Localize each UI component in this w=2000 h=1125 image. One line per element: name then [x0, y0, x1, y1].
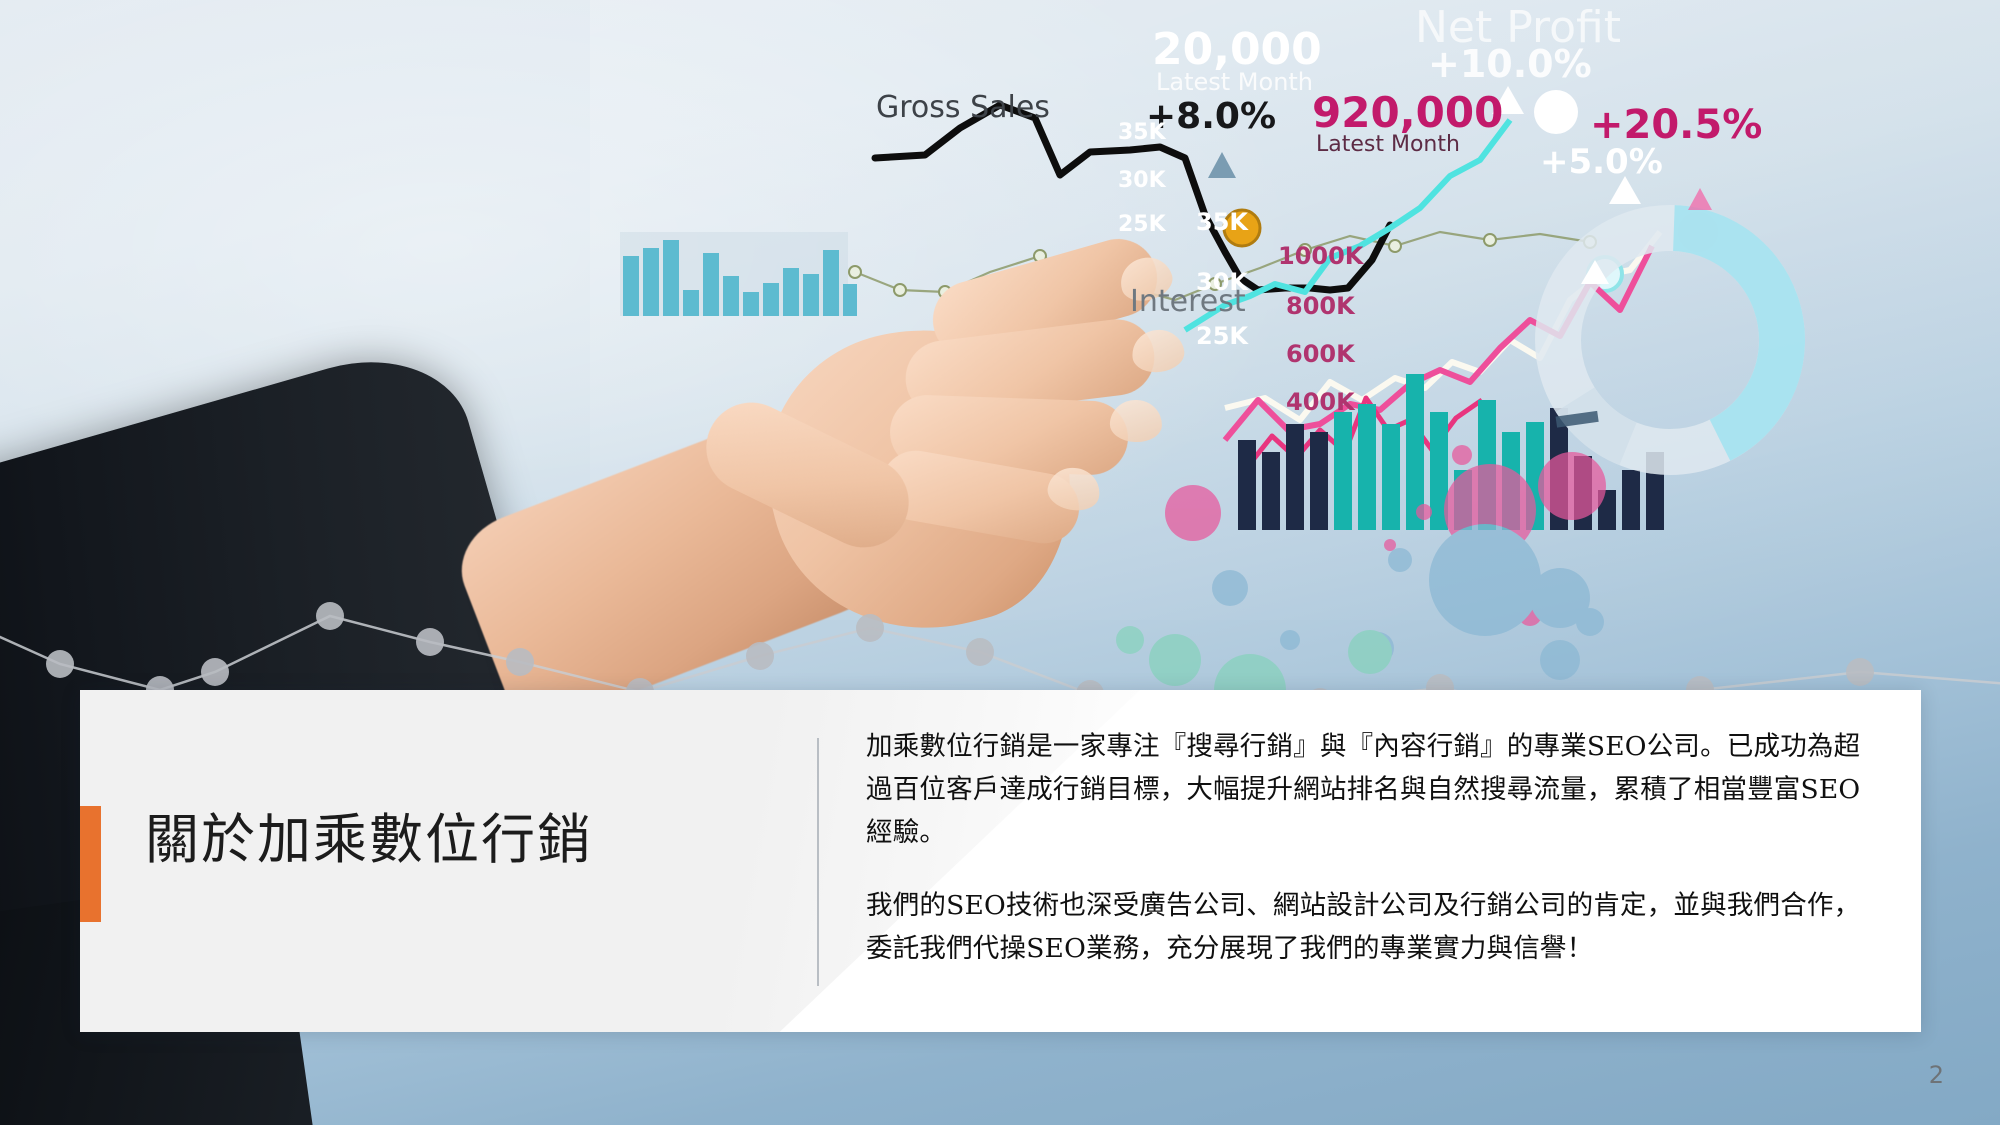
axis-tick-30k-a: 30K: [1118, 168, 1166, 193]
page-number: 2: [1929, 1061, 1944, 1089]
accent-bar: [80, 806, 101, 922]
axis-tick-400k: 400K: [1286, 388, 1355, 416]
content-card: 關於加乘數位行銷 加乘數位行銷是一家專注『搜尋行銷』與『內容行銷』的專業SEO公…: [80, 690, 1921, 1032]
label-interest: Interest: [1130, 284, 1246, 319]
paragraph-2: 我們的SEO技術也深受廣告公司、網站設計公司及行銷公司的肯定，並與我們合作，委託…: [866, 885, 1876, 971]
page-title: 關於加乘數位行銷: [145, 808, 705, 873]
axis-tick-1000k: 1000K: [1278, 242, 1363, 270]
bar-chart-left: [620, 232, 857, 316]
cyan-line-end-dot: [1534, 90, 1578, 134]
body-text: 加乘數位行銷是一家專注『搜尋行銷』與『內容行銷』的專業SEO公司。已成功為超過百…: [866, 726, 1876, 971]
value-pct-10: +10.0%: [1428, 42, 1592, 86]
axis-tick-25k-b: 25K: [1196, 322, 1248, 350]
value-920000: 920,000: [1312, 88, 1503, 137]
axis-tick-25k-a: 25K: [1118, 212, 1166, 237]
axis-tick-800k: 800K: [1286, 292, 1355, 320]
axis-tick-600k: 600K: [1286, 340, 1355, 368]
vertical-divider: [817, 738, 819, 986]
label-latest-month-2: Latest Month: [1316, 132, 1460, 157]
label-gross-sales: Gross Sales: [876, 90, 1050, 125]
axis-tick-35k-b: 35K: [1196, 208, 1248, 236]
paragraph-1: 加乘數位行銷是一家專注『搜尋行銷』與『內容行銷』的專業SEO公司。已成功為超過百…: [866, 726, 1876, 855]
label-latest-month-1: Latest Month: [1156, 68, 1313, 96]
axis-tick-35k-a: 35K: [1118, 120, 1166, 145]
slide-canvas: Gross Sales Net Profit 20,000 Latest Mon…: [0, 0, 2000, 1125]
value-pct-5: +5.0%: [1540, 142, 1663, 182]
